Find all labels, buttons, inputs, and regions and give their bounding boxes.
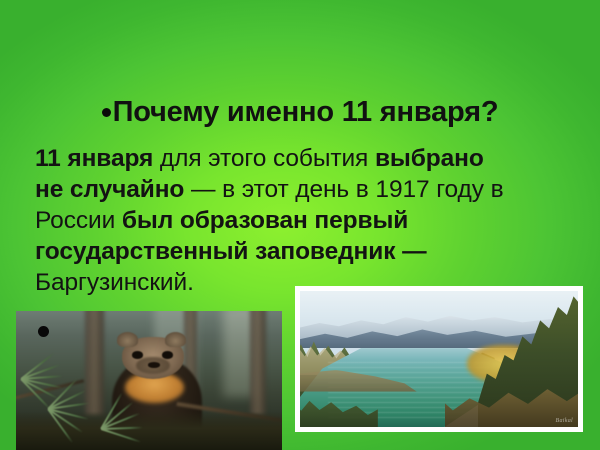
body-segment-0: 11 января [35,145,160,172]
body-segment-5: Баргузинский. [35,269,194,296]
presentation-slide: Почему именно 11 января? 11 января для э… [0,0,600,450]
sable-photo [16,311,282,450]
photo-watermark: Baikal [556,418,573,424]
sable-eye-left [132,351,143,358]
river-photo-inner: Baikal [300,291,578,427]
sable-photo-bullet-icon [38,326,49,337]
sable-eye-right [162,351,173,358]
sable-nose [148,362,160,368]
title-text: Почему именно 11 января? [113,96,499,129]
river-landscape-photo: Baikal [295,286,583,432]
tree-trunk [250,311,266,415]
title-bullet-icon [102,108,111,117]
tree-trunk [85,311,104,415]
slide-body-text: 11 января для этого события выбрано не с… [35,143,505,298]
sable-ear-right [165,332,186,347]
slide-title: Почему именно 11 января? [0,96,600,129]
sable-ear-left [117,332,138,347]
forest-floor [16,411,282,450]
body-segment-1: для этого события [160,145,375,172]
